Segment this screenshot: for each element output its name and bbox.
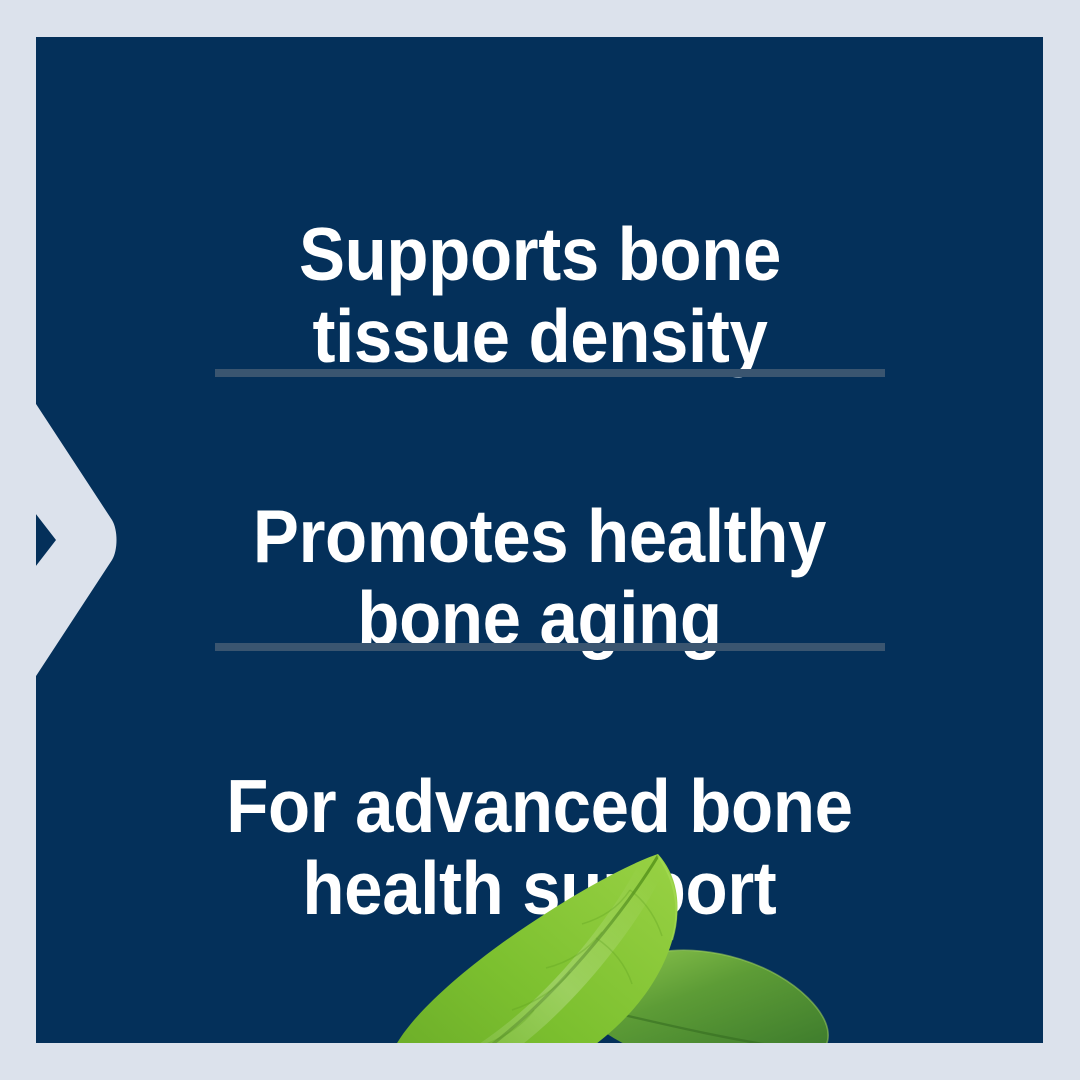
benefit-item-2: Promotes healthy bone aging bbox=[90, 412, 990, 660]
benefit-text-1: Supports bone tissue density bbox=[298, 213, 780, 378]
benefit-item-1: Supports bone tissue density bbox=[90, 130, 990, 378]
benefit-item-3: For advanced bone health support bbox=[90, 682, 990, 930]
benefit-text-2: Promotes healthy bone aging bbox=[253, 495, 826, 660]
right-margin-strip bbox=[1043, 0, 1080, 1080]
benefit-divider-1 bbox=[215, 369, 885, 377]
bottom-margin-strip bbox=[0, 1043, 1080, 1080]
navy-card: Supports bone tissue density Promotes he… bbox=[36, 37, 1043, 1043]
benefit-divider-2 bbox=[215, 643, 885, 651]
benefit-list: Supports bone tissue density Promotes he… bbox=[36, 37, 1043, 1043]
benefit-text-3: For advanced bone health support bbox=[226, 765, 852, 930]
benefits-panel-graphic: Supports bone tissue density Promotes he… bbox=[0, 0, 1080, 1080]
